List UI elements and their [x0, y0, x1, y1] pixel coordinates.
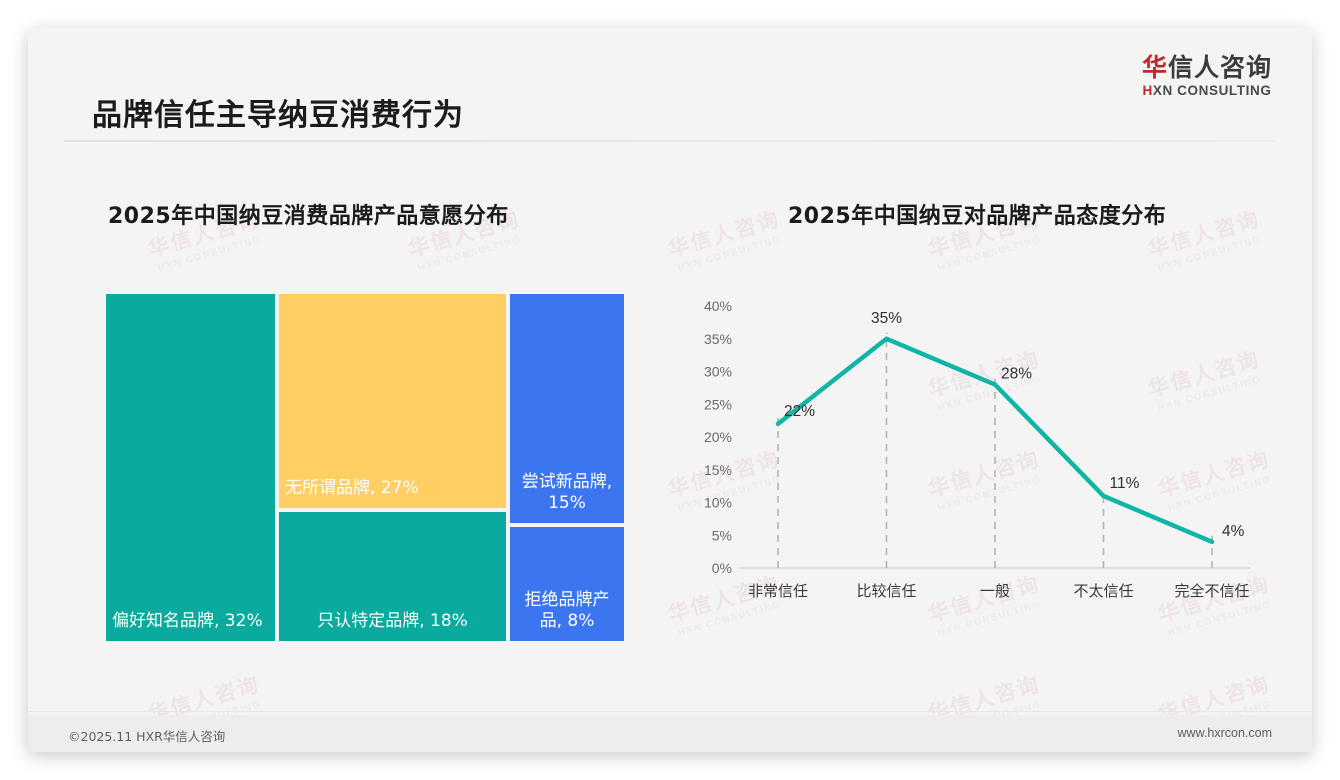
y-axis-tick-label: 40%: [704, 298, 732, 314]
treemap-panel: 2025年中国纳豆消费品牌产品意愿分布 偏好知名品牌, 32%无所谓品牌, 27…: [96, 178, 666, 648]
x-axis-tick-label: 比较信任: [856, 582, 916, 600]
treemap-cell[interactable]: 偏好知名品牌, 32%: [104, 292, 277, 643]
treemap-cell[interactable]: 拒绝品牌产品, 8%: [508, 525, 626, 643]
x-axis-tick-label: 不太信任: [1073, 582, 1133, 600]
treemap-cell[interactable]: 尝试新品牌, 15%: [508, 292, 626, 525]
logo-en-dark: XN CONSULTING: [1153, 83, 1272, 98]
footer-divider: [28, 711, 1312, 712]
logo-chinese-text: 华信人咨询: [1142, 55, 1272, 81]
y-axis-tick-label: 25%: [704, 396, 732, 412]
treemap-cell-label: 偏好知名品牌, 32%: [112, 611, 263, 633]
slide-header: 品牌信任主导纳豆消费行为 华信人咨询 HXN CONSULTING: [28, 28, 1312, 124]
data-point-label: 22%: [784, 403, 815, 420]
logo-cn-dark: 信人咨询: [1168, 53, 1272, 82]
y-axis-tick-label: 0%: [712, 560, 732, 576]
bottom-bar: ©2025.11 HXR华信人咨询 www.hxrcon.com: [28, 715, 1312, 752]
logo-english-text: HXN CONSULTING: [1142, 83, 1272, 98]
brand-logo: 华信人咨询 HXN CONSULTING: [1142, 55, 1272, 98]
line-chart-panel: 2025年中国纳豆对品牌产品态度分布 0%5%10%15%20%25%30%35…: [688, 178, 1268, 648]
treemap-cell[interactable]: 无所谓品牌, 27%: [277, 292, 508, 510]
page-title: 品牌信任主导纳豆消费行为: [92, 90, 464, 134]
x-axis-tick-label: 一般: [980, 582, 1010, 600]
data-point-label: 35%: [871, 310, 902, 327]
y-axis-tick-label: 5%: [712, 527, 732, 543]
treemap-cell-label: 拒绝品牌产品, 8%: [516, 590, 618, 634]
data-point-label: 4%: [1222, 523, 1245, 540]
logo-en-red: H: [1143, 83, 1153, 98]
y-axis-tick-label: 20%: [704, 429, 732, 445]
slide-card: 华信人咨询HXN CONSULTING华信人咨询HXN CONSULTING华信…: [28, 28, 1312, 752]
copyright-text: ©2025.11 HXR华信人咨询: [68, 726, 225, 745]
website-link[interactable]: www.hxrcon.com: [1178, 726, 1272, 740]
treemap-cell-label: 只认特定品牌, 18%: [317, 611, 468, 633]
y-axis-tick-label: 30%: [704, 364, 732, 380]
treemap-title: 2025年中国纳豆消费品牌产品意愿分布: [108, 198, 509, 230]
treemap-chart: 偏好知名品牌, 32%无所谓品牌, 27%只认特定品牌, 18%尝试新品牌, 1…: [104, 292, 626, 643]
y-axis-tick-label: 10%: [704, 495, 732, 511]
data-point-label: 28%: [1001, 366, 1032, 383]
treemap-cell[interactable]: 只认特定品牌, 18%: [277, 510, 508, 643]
header-divider: [64, 140, 1276, 142]
x-axis-tick-label: 完全不信任: [1174, 582, 1249, 600]
line-chart-svg: 0%5%10%15%20%25%30%35%40%22%35%28%11%4%非…: [688, 278, 1268, 628]
treemap-cell-label: 尝试新品牌, 15%: [516, 472, 618, 516]
logo-cn-red: 华: [1142, 53, 1168, 82]
data-point-label: 11%: [1110, 475, 1140, 492]
y-axis-tick-label: 35%: [704, 331, 732, 347]
x-axis-tick-label: 非常信任: [748, 582, 808, 600]
line-chart-title: 2025年中国纳豆对品牌产品态度分布: [788, 198, 1166, 230]
treemap-cell-label: 无所谓品牌, 27%: [285, 478, 419, 500]
y-axis-tick-label: 15%: [704, 462, 732, 478]
line-chart: 0%5%10%15%20%25%30%35%40%22%35%28%11%4%非…: [688, 278, 1268, 628]
